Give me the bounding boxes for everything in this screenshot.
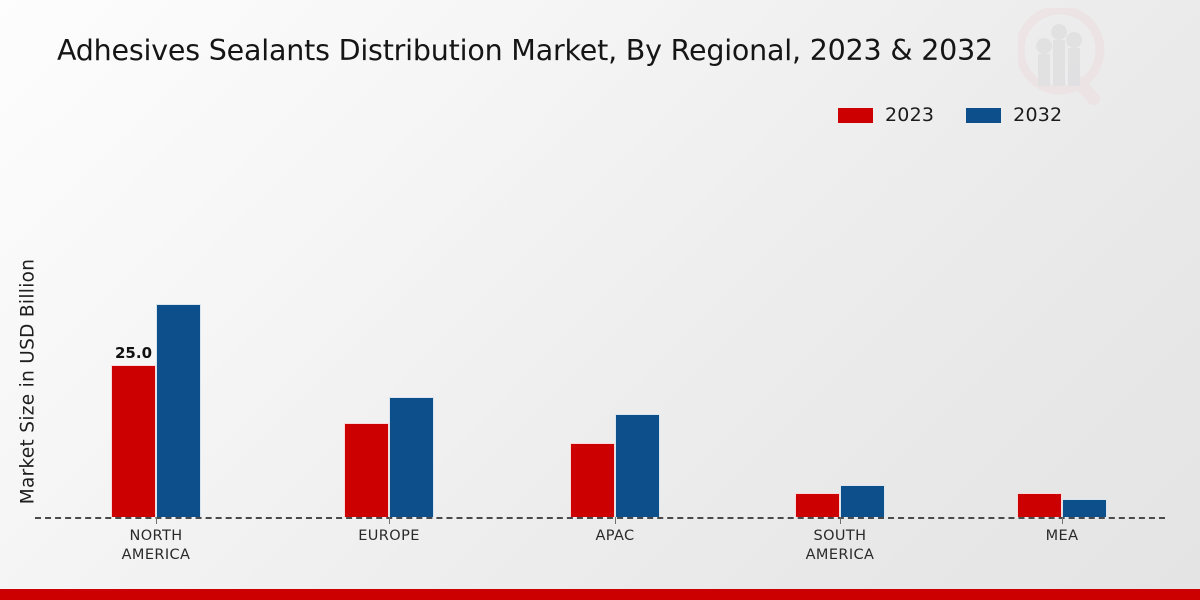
x-axis-category-label: MEA: [962, 527, 1162, 546]
x-axis-category-label: SOUTHAMERICA: [740, 527, 940, 565]
bar-2023[interactable]: 25.0: [111, 365, 156, 517]
x-axis-category-label: EUROPE: [289, 527, 489, 546]
x-axis-tick: [389, 517, 390, 524]
footer-accent-bar: [0, 589, 1200, 600]
x-axis-tick: [840, 517, 841, 524]
bar-2032[interactable]: [389, 397, 434, 517]
x-axis-category-label: NORTHAMERICA: [56, 527, 256, 565]
plot-area: 25.0 NORTHAMERICAEUROPEAPACSOUTHAMERICAM…: [0, 0, 1200, 600]
x-axis-category-label: APAC: [515, 527, 715, 546]
bar-2032[interactable]: [615, 414, 660, 517]
bar-2023[interactable]: [344, 423, 389, 517]
x-axis-tick: [156, 517, 157, 524]
bar-2023[interactable]: [570, 443, 615, 517]
bar-2032[interactable]: [840, 485, 885, 517]
chart-figure: Adhesives Sealants Distribution Market, …: [0, 0, 1200, 600]
x-axis-baseline: [35, 517, 1165, 519]
x-axis-tick: [615, 517, 616, 524]
bar-value-label: 25.0: [115, 344, 152, 362]
bar-2032[interactable]: [156, 304, 201, 517]
bar-2032[interactable]: [1062, 499, 1107, 517]
bar-2023[interactable]: [1017, 493, 1062, 517]
x-axis-tick: [1062, 517, 1063, 524]
bar-2023[interactable]: [795, 493, 840, 517]
